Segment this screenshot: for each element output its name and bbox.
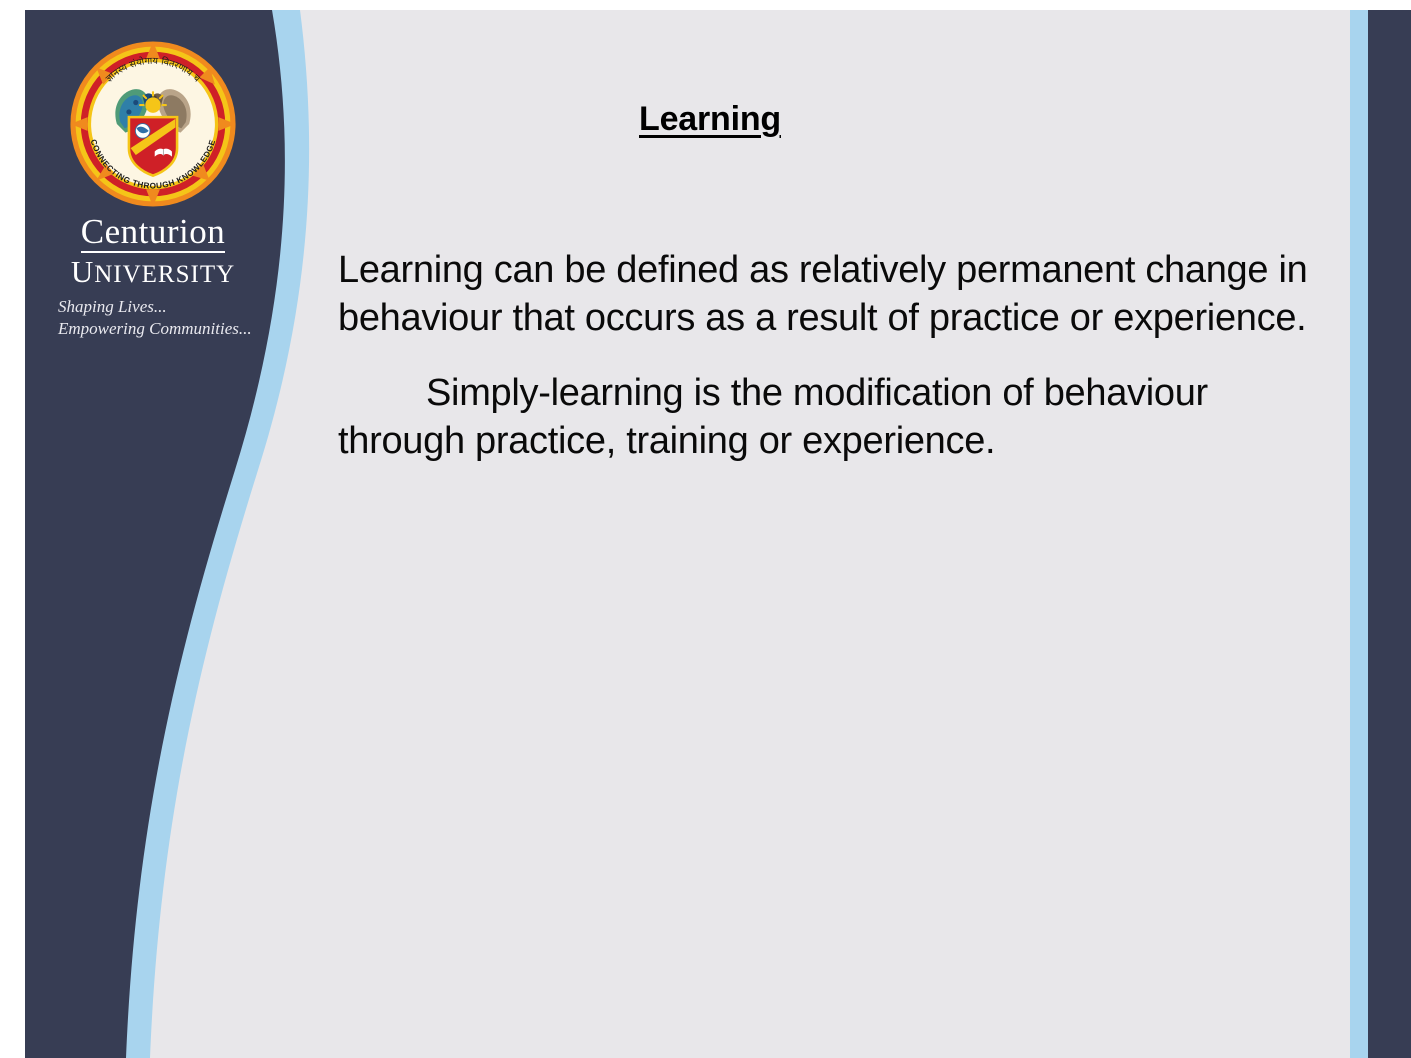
tagline-line-1: Shaping Lives... <box>58 296 268 318</box>
right-navy-band <box>1368 10 1411 1058</box>
body-paragraph-1: Learning can be defined as relatively pe… <box>338 246 1336 343</box>
crest-shield-icon <box>129 117 177 175</box>
slide-content: Learning Learning can be defined as rela… <box>330 100 1330 139</box>
wordmark-centurion: Centurion <box>81 214 225 253</box>
body-paragraph-2: Simply-learning is the modification of b… <box>338 369 1336 466</box>
page-title: Learning <box>330 100 1090 139</box>
tagline-line-2: Empowering Communities... <box>58 318 268 340</box>
university-crest-icon: ज्ञानस्य संयोगाय वितरणाय च CONNECTING TH… <box>67 38 239 210</box>
right-blue-stripe <box>1350 10 1368 1058</box>
wordmark: Centurion UNIVERSITY <box>38 214 268 287</box>
presentation-slide: ज्ञानस्य संयोगाय वितरणाय च CONNECTING TH… <box>0 0 1411 1058</box>
tagline: Shaping Lives... Empowering Communities.… <box>38 296 268 340</box>
wordmark-university: UNIVERSITY <box>38 256 268 287</box>
wordmark-university-rest: NIVERSITY <box>94 261 235 288</box>
university-logo: ज्ञानस्य संयोगाय वितरणाय च CONNECTING TH… <box>38 38 268 340</box>
slide-body: Learning can be defined as relatively pe… <box>338 246 1336 465</box>
wordmark-university-cap: U <box>71 254 94 289</box>
